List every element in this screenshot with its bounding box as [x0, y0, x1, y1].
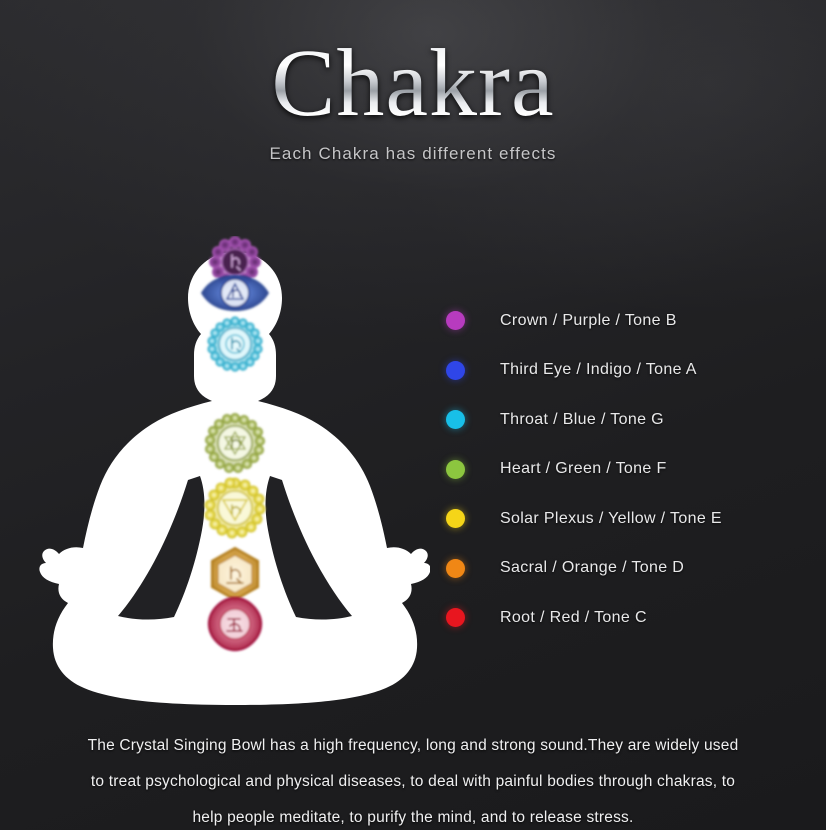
legend-dot-crown-icon — [446, 311, 465, 330]
legend-item-throat[interactable]: Throat / Blue / Tone G — [446, 395, 806, 445]
legend-label-heart: Heart / Green / Tone F — [500, 460, 667, 478]
legend-dot-root-icon — [446, 608, 465, 627]
legend-label-root: Root / Red / Tone C — [500, 609, 647, 627]
legend-dot-heart-icon — [446, 460, 465, 479]
chakra-legend: Crown / Purple / Tone B Third Eye / Indi… — [446, 296, 806, 643]
legend-dot-sacral-icon — [446, 559, 465, 578]
legend-item-third-eye[interactable]: Third Eye / Indigo / Tone A — [446, 346, 806, 396]
meditating-figure — [30, 236, 430, 706]
legend-dot-solar-plexus-icon — [446, 509, 465, 528]
lotus-pose-silhouette — [30, 236, 430, 706]
footer-line-3: help people meditate, to purify the mind… — [20, 800, 806, 830]
footer-description: The Crystal Singing Bowl has a high freq… — [20, 728, 806, 830]
legend-label-crown: Crown / Purple / Tone B — [500, 312, 677, 330]
legend-item-solar-plexus[interactable]: Solar Plexus / Yellow / Tone E — [446, 494, 806, 544]
legend-dot-throat-icon — [446, 410, 465, 429]
legend-label-sacral: Sacral / Orange / Tone D — [500, 559, 684, 577]
legend-dot-third-eye-icon — [446, 361, 465, 380]
legend-item-root[interactable]: Root / Red / Tone C — [446, 593, 806, 643]
page-subtitle: Each Chakra has different effects — [0, 144, 826, 164]
root-chakra-icon — [209, 598, 261, 650]
footer-line-1: The Crystal Singing Bowl has a high freq… — [20, 728, 806, 764]
legend-item-crown[interactable]: Crown / Purple / Tone B — [446, 296, 806, 346]
page-title: Chakra — [0, 34, 826, 132]
legend-label-third-eye: Third Eye / Indigo / Tone A — [500, 361, 697, 379]
chakra-poster: Chakra Each Chakra has different effects — [0, 0, 826, 830]
legend-item-heart[interactable]: Heart / Green / Tone F — [446, 445, 806, 495]
legend-label-throat: Throat / Blue / Tone G — [500, 411, 664, 429]
legend-item-sacral[interactable]: Sacral / Orange / Tone D — [446, 544, 806, 594]
poster-header: Chakra Each Chakra has different effects — [0, 34, 826, 164]
legend-label-solar-plexus: Solar Plexus / Yellow / Tone E — [500, 510, 722, 528]
footer-line-2: to treat psychological and physical dise… — [20, 764, 806, 800]
